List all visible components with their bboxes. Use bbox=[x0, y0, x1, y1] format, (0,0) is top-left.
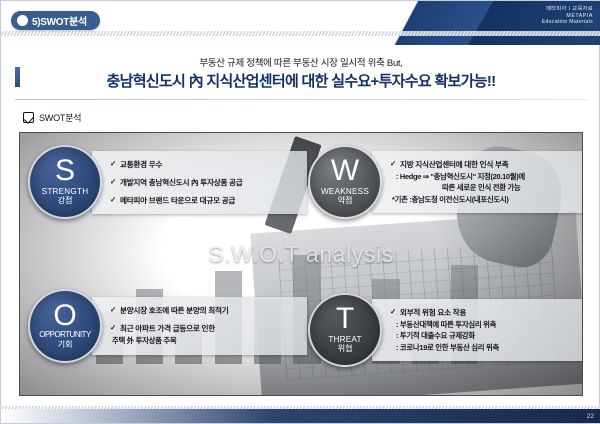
opportunity-letter: O bbox=[53, 302, 76, 331]
tick-icon: ✓ bbox=[390, 307, 396, 318]
tick-icon: ✓ bbox=[390, 159, 396, 170]
list-item: ✓ 지방 지식산업센터에 대한 인식 부족 bbox=[390, 159, 574, 170]
threat-detail-1: : 부동산대책에 따른 투자심리 위축 bbox=[390, 319, 574, 330]
quadrant-threat: T THREAT 위협 ✓ 외부적 위험 요소 작용 : 부동산대책에 따른 투… bbox=[308, 293, 583, 367]
list-item-text: 최근 아파트 가격 급등으로 인한 bbox=[120, 323, 215, 334]
section-label: SWOT분석 bbox=[23, 111, 81, 124]
strength-label-en: STRENGTH bbox=[42, 187, 89, 196]
weakness-badge: W WEAKNESS 약점 bbox=[308, 145, 382, 219]
page-number: 22 bbox=[587, 414, 594, 420]
swot-photo-panel: S.W.O.T analysis S STRENGTH 강점 ✓ 교통환경 우수… bbox=[19, 132, 583, 396]
opportunity-label-en: OPPORTUNITY bbox=[39, 331, 91, 340]
strength-panel: ✓ 교통환경 우수 ✓ 개발지역 충남혁신도시 內 투자상품 공급 ✓ 메타피아… bbox=[92, 151, 307, 214]
weakness-detail-2: 따른 새로운 인식 전환 가능 bbox=[390, 182, 574, 193]
slide-title-tab[interactable]: 5)SWOT분석 bbox=[11, 11, 100, 30]
slide-root: 메타피아 I 교육자료 METAPIA Education Materials … bbox=[0, 0, 600, 424]
list-item: ✓ 메타피아 브랜드 타운으로 대규모 공급 bbox=[110, 195, 297, 206]
opportunity-badge: O OPPORTUNITY 기회 bbox=[28, 289, 102, 363]
list-item-text: 외부적 위험 요소 작용 bbox=[400, 307, 466, 318]
bullet-circle-icon bbox=[17, 15, 28, 26]
opportunity-label-kr: 기회 bbox=[58, 340, 73, 351]
list-item-text: 교통환경 우수 bbox=[120, 159, 162, 170]
headline-subtext: 부동산 규제 정책에 따른 부동산 시장 일시적 위축 But, bbox=[1, 55, 600, 69]
section-label-text: SWOT분석 bbox=[39, 111, 81, 124]
threat-detail-2: : 투기적 대출수요 규제강화 bbox=[390, 330, 574, 341]
quadrant-weakness: W WEAKNESS 약점 ✓ 지방 지식산업센터에 대한 인식 부족 : He… bbox=[308, 145, 583, 219]
list-item: ✓ 최근 아파트 가격 급등으로 인한 bbox=[110, 323, 297, 334]
quadrant-strength: S STRENGTH 강점 ✓ 교통환경 우수 ✓ 개발지역 충남혁신도시 內 … bbox=[28, 145, 307, 219]
list-item-text: 개발지역 충남혁신도시 內 투자상품 공급 bbox=[120, 177, 243, 188]
tick-icon: ✓ bbox=[110, 323, 116, 334]
weakness-detail-1: : Hedge ⇒ "충남혁신도시" 지정(20.10월)에 bbox=[390, 171, 574, 182]
quadrant-opportunity: O OPPORTUNITY 기회 ✓ 분양시장 호조에 따른 분양의 최적기 ✓… bbox=[28, 289, 307, 363]
list-item-text: 메타피아 브랜드 타운으로 대규모 공급 bbox=[120, 195, 235, 206]
corporate-branding: 메타피아 I 교육자료 METAPIA Education Materials bbox=[542, 6, 593, 26]
list-item: ✓ 외부적 위험 요소 작용 bbox=[390, 307, 574, 318]
opportunity-panel: ✓ 분양시장 호조에 따른 분양의 최적기 ✓ 최근 아파트 가격 급등으로 인… bbox=[92, 297, 307, 354]
tick-icon: ✓ bbox=[110, 305, 116, 316]
threat-detail-3: : 코로나19로 인한 부동산 심리 위축 bbox=[390, 342, 574, 353]
threat-label-kr: 위협 bbox=[338, 344, 353, 355]
weakness-detail-3: *기존 :충남도청 이전신도시(내포신도시) bbox=[390, 194, 574, 205]
tick-icon: ✓ bbox=[110, 195, 116, 206]
tick-icon: ✓ bbox=[110, 159, 116, 170]
list-item: ✓ 개발지역 충남혁신도시 內 투자상품 공급 bbox=[110, 177, 297, 188]
header-hatch-divider bbox=[1, 31, 600, 36]
tick-icon: ✓ bbox=[110, 177, 116, 188]
threat-badge: T THREAT 위협 bbox=[308, 293, 382, 367]
slide-title-label: 5)SWOT분석 bbox=[32, 13, 87, 28]
weakness-panel: ✓ 지방 지식산업센터에 대한 인식 부족 : Hedge ⇒ "충남혁신도시"… bbox=[372, 151, 583, 212]
threat-panel: ✓ 외부적 위험 요소 작용 : 부동산대책에 따른 투자심리 위축 : 투기적… bbox=[372, 299, 583, 360]
opportunity-item2-line2: 주택 外 투자상품 주목 bbox=[110, 335, 297, 346]
corp-name-en: METAPIA bbox=[542, 13, 593, 20]
slide-footer: 22 bbox=[1, 409, 600, 423]
list-item-text: 지방 지식산업센터에 대한 인식 부족 bbox=[400, 159, 508, 170]
headline-zone: 부동산 규제 정책에 따른 부동산 시장 일시적 위축 But, 충남혁신도시 … bbox=[1, 47, 600, 105]
strength-label-kr: 강점 bbox=[58, 196, 73, 207]
corp-name-kr: 메타피아 I 교육자료 bbox=[542, 6, 593, 13]
corp-subtitle: Education Materials bbox=[542, 19, 593, 26]
weakness-label-kr: 약점 bbox=[338, 196, 353, 207]
check-icon bbox=[23, 112, 34, 123]
threat-letter: T bbox=[336, 305, 354, 334]
headline-maintext: 충남혁신도시 內 지식산업센터에 대한 실수요+투자수요 확보가능!! bbox=[1, 70, 600, 91]
list-item: ✓ 교통환경 우수 bbox=[110, 159, 297, 170]
strength-letter: S bbox=[55, 157, 75, 186]
weakness-letter: W bbox=[331, 157, 359, 186]
list-item: ✓ 분양시장 호조에 따른 분양의 최적기 bbox=[110, 305, 297, 316]
strength-badge: S STRENGTH 강점 bbox=[28, 145, 102, 219]
list-item-text: 분양시장 호조에 따른 분양의 최적기 bbox=[120, 305, 228, 316]
threat-label-en: THREAT bbox=[328, 335, 361, 344]
headline-divider bbox=[15, 99, 587, 100]
weakness-label-en: WEAKNESS bbox=[321, 187, 369, 196]
